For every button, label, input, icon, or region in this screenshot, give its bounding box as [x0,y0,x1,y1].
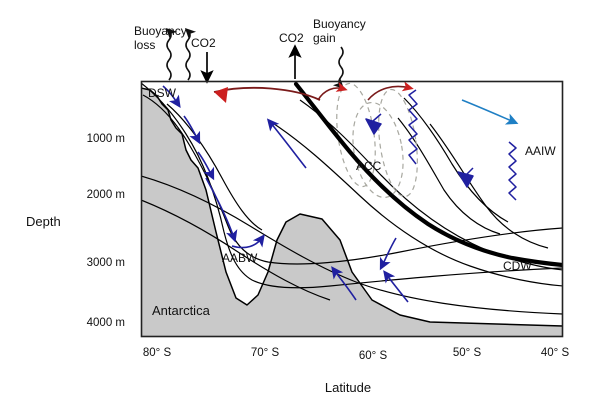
label-aaiw: AAIW [525,144,556,158]
ytick-2000: 2000 m [87,189,125,201]
ocean-overturning-schematic: Buoyancy loss CO2 CO2 Buoyancy gain [0,0,600,417]
co2-right-label: CO2 [279,31,304,45]
x-axis-title: Latitude [325,380,371,395]
buoyancy-gain-label-line1: Buoyancy [313,17,366,31]
figure-canvas: Buoyancy loss CO2 CO2 Buoyancy gain [0,0,600,417]
label-acc: ACC [356,159,382,173]
co2-left-label: CO2 [191,36,216,50]
xtick-60S: 60° S [359,350,388,362]
label-dsw: DSW [148,86,177,100]
xtick-80S: 80° S [143,347,172,359]
label-aabw: AABW [222,251,258,265]
ytick-1000: 1000 m [87,133,125,145]
background [0,0,600,417]
xtick-40S: 40° S [541,347,570,359]
y-axis-title: Depth [26,214,61,229]
ytick-3000: 3000 m [87,257,125,269]
buoyancy-gain-label-line2: gain [313,31,336,45]
ytick-4000: 4000 m [87,317,125,329]
xtick-50S: 50° S [453,347,482,359]
xtick-70S: 70° S [251,347,280,359]
label-antarctica: Antarctica [152,303,211,318]
buoyancy-loss-label-line2: loss [134,38,155,52]
buoyancy-loss-label-line1: Buoyancy [134,24,187,38]
label-cdw: CDW [503,259,532,273]
